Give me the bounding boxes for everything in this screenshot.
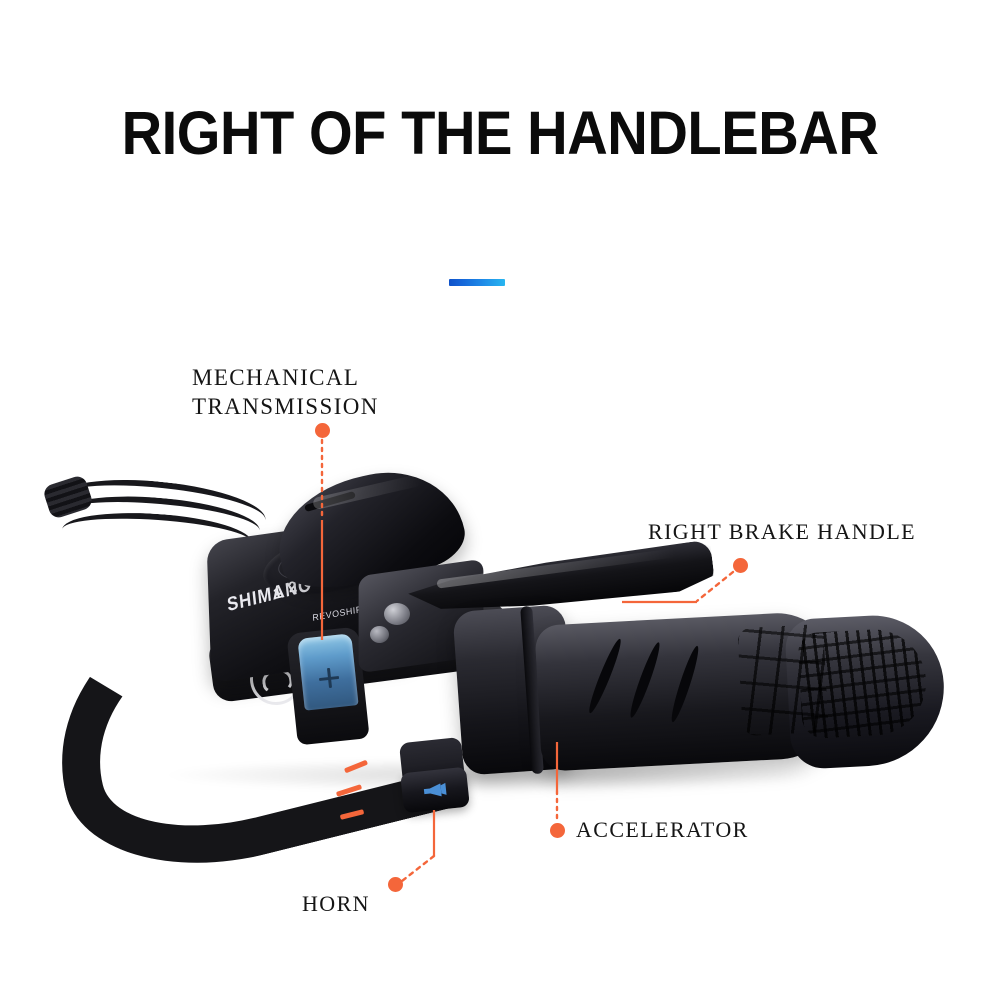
callout-dot-mechanical	[315, 423, 330, 438]
brake-pivot-bolt	[384, 603, 410, 625]
page-root: RIGHT OF THE HANDLEBAR 1 2 3 4 5 6 SHIMA…	[0, 0, 1000, 1000]
title-divider	[449, 279, 505, 286]
callout-label-line-1: MECHANICAL	[192, 363, 379, 392]
callout-label-right-brake-handle: RIGHT BRAKE HANDLE	[648, 519, 916, 545]
callout-dot-accelerator	[550, 823, 565, 838]
page-title: RIGHT OF THE HANDLEBAR	[40, 98, 960, 168]
handlebar-photo: 1 2 3 4 5 6 SHIMANO REVOSHIFT	[40, 440, 960, 890]
callout-dot-horn	[388, 877, 403, 892]
callout-label-accelerator: ACCELERATOR	[576, 817, 749, 843]
plus-icon	[318, 667, 340, 689]
callout-label-horn: HORN	[302, 891, 370, 917]
brake-adjust-screw	[370, 626, 389, 643]
callout-label-line-2: TRANSMISSION	[192, 392, 379, 421]
callout-label-mechanical-transmission: MECHANICAL TRANSMISSION	[192, 363, 379, 421]
callout-dot-brake	[733, 558, 748, 573]
horn-icon	[421, 781, 449, 800]
